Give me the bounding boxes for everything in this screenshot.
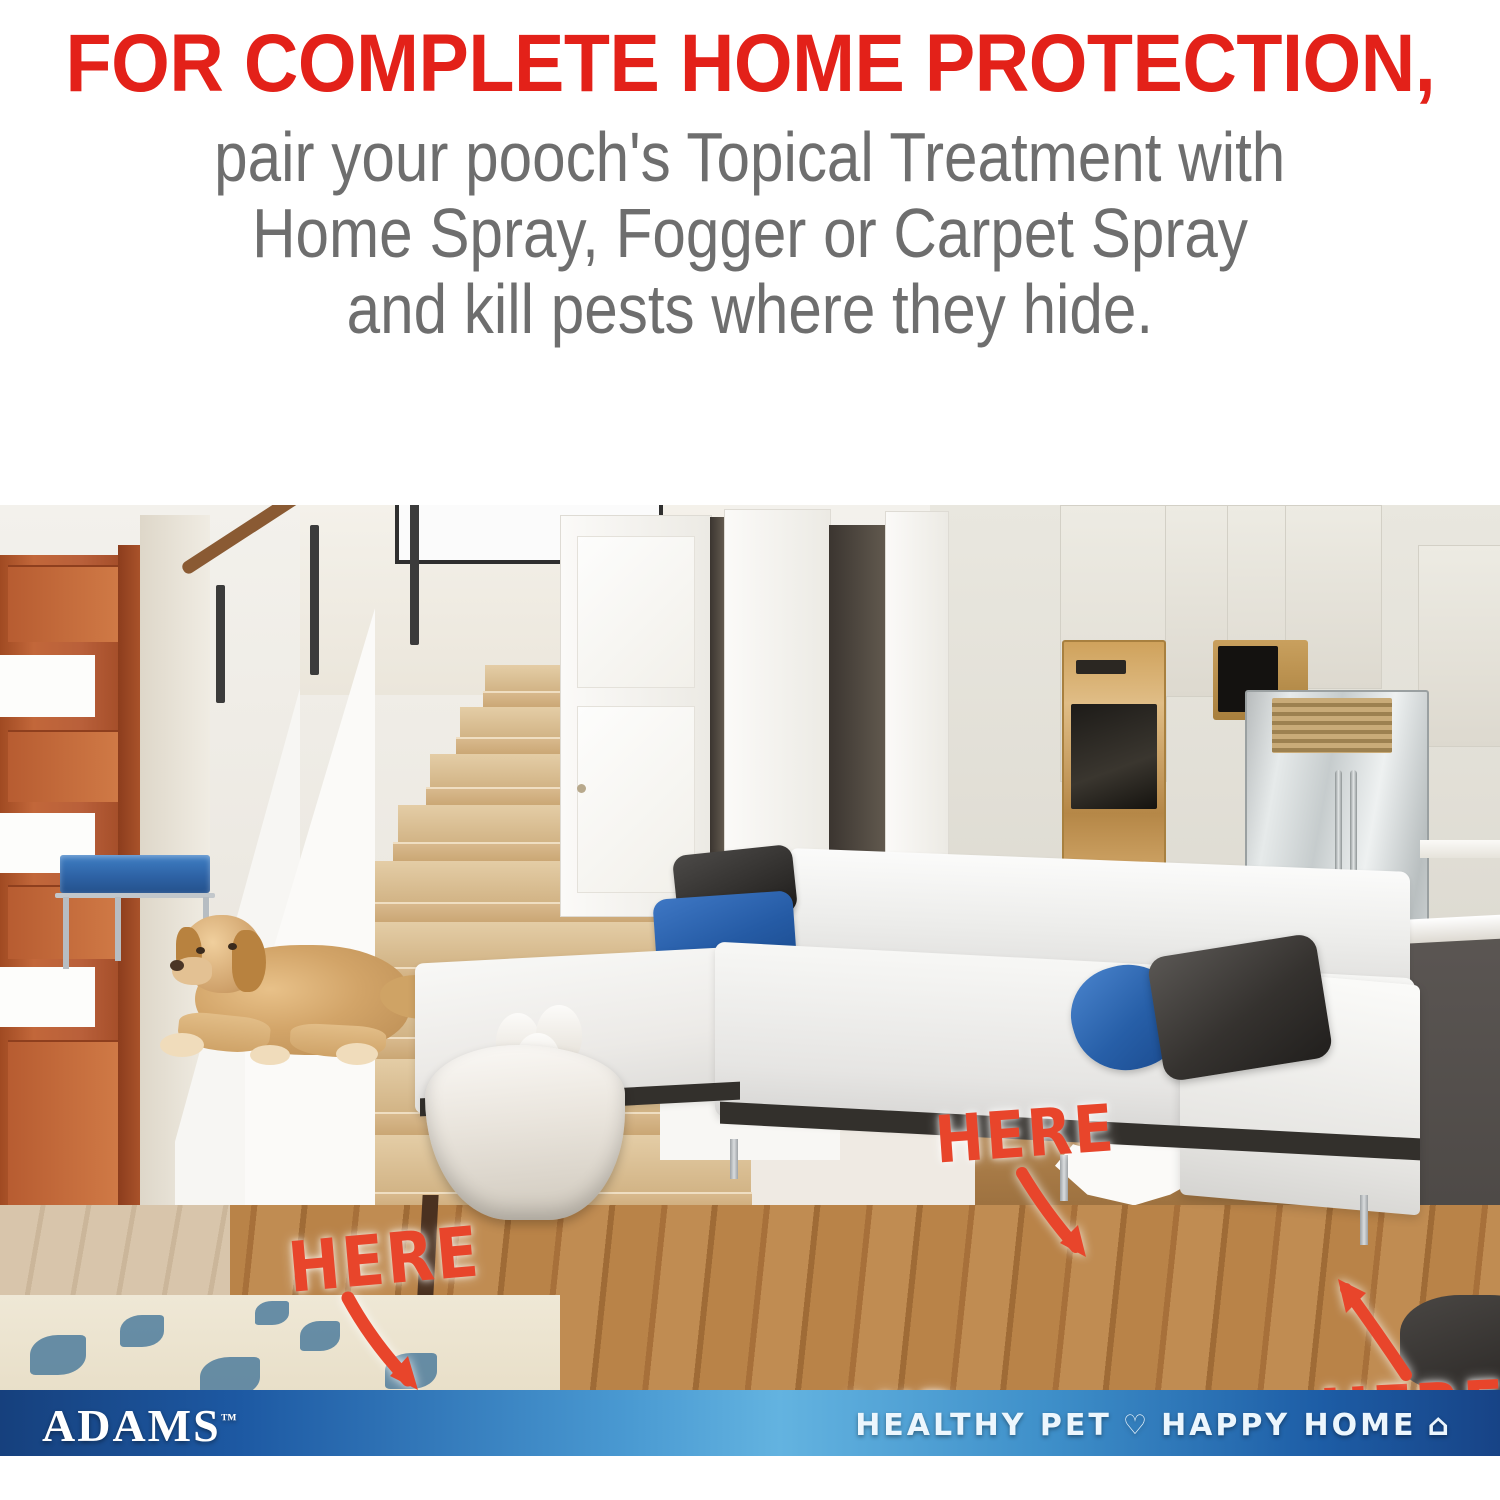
headline-block: FOR COMPLETE HOME PROTECTION, pair your … bbox=[0, 0, 1500, 505]
annotation-here-wall: HERE bbox=[933, 1090, 1118, 1179]
ad-creative: FOR COMPLETE HOME PROTECTION, pair your … bbox=[0, 0, 1500, 1500]
annotation-here-stairs: HERE bbox=[285, 1210, 484, 1308]
brand-tagline: HEALTHY PET ♡ HAPPY HOME ⌂ bbox=[855, 1408, 1452, 1443]
bottom-white-margin bbox=[0, 1456, 1500, 1500]
headline-line-2: pair your pooch's Topical Treatment with bbox=[214, 120, 1285, 194]
tagline-happy-home: HAPPY HOME bbox=[1161, 1408, 1416, 1443]
annotation-and-line1: AND bbox=[835, 1382, 1012, 1390]
heart-icon: ♡ bbox=[1123, 1410, 1150, 1441]
driftwood-bowl bbox=[0, 505, 1500, 1390]
trademark-symbol: ™ bbox=[221, 1412, 237, 1429]
adams-logo: ADAMS™ bbox=[42, 1399, 237, 1452]
tagline-healthy-pet: HEALTHY PET bbox=[855, 1408, 1112, 1443]
adams-wordmark: ADAMS bbox=[42, 1400, 221, 1451]
headline-secondary: pair your pooch's Topical Treatment with… bbox=[127, 120, 1372, 347]
interior-photo: HERE HERE HERE HERE AND HERE! bbox=[0, 505, 1500, 1390]
headline-primary: FOR COMPLETE HOME PROTECTION, bbox=[65, 22, 1435, 106]
home-icon: ⌂ bbox=[1428, 1408, 1452, 1443]
annotation-and-here: AND HERE! bbox=[835, 1382, 1015, 1390]
headline-line-3: Home Spray, Fogger or Carpet Spray bbox=[252, 196, 1248, 270]
headline-line-4: and kill pests where they hide. bbox=[347, 272, 1153, 346]
